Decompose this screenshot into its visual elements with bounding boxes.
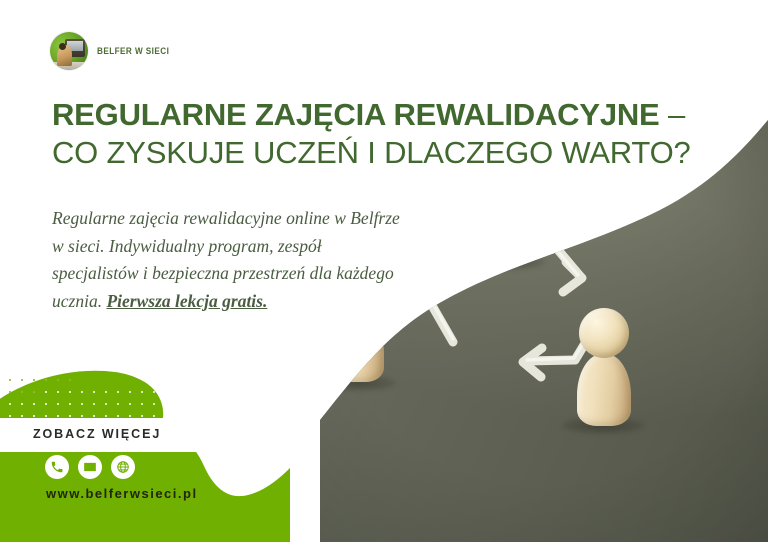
page-title: REGULARNE ZAJĘCIA REWALIDACYJNE – CO ZYS… [52, 96, 732, 172]
globe-icon[interactable] [111, 455, 135, 479]
hero-photo [320, 120, 768, 542]
body-paragraph: Regularne zajęcia rewalidacyjne online w… [52, 205, 402, 315]
body-emphasis: Pierwsza lekcja gratis. [106, 291, 267, 311]
cta-label[interactable]: ZOBACZ WIĘCEJ [33, 427, 161, 441]
footer-blob-shape [0, 362, 290, 542]
brand-logo[interactable]: BELFER W SIECI [50, 32, 181, 70]
brand-logo-text: BELFER W SIECI [97, 46, 169, 57]
email-icon[interactable] [78, 455, 102, 479]
phone-icon[interactable] [45, 455, 69, 479]
photo-vignette [320, 120, 768, 542]
contact-icons [45, 455, 135, 479]
headline-strong: REGULARNE ZAJĘCIA REWALIDACYJNE [52, 97, 660, 132]
belfer-logo-icon [50, 32, 88, 70]
poster-canvas: BELFER W SIECI REGULARNE ZAJĘCIA REWALID… [0, 0, 768, 542]
website-url[interactable]: www.belferwsieci.pl [46, 486, 198, 501]
blob-svg [0, 362, 290, 542]
